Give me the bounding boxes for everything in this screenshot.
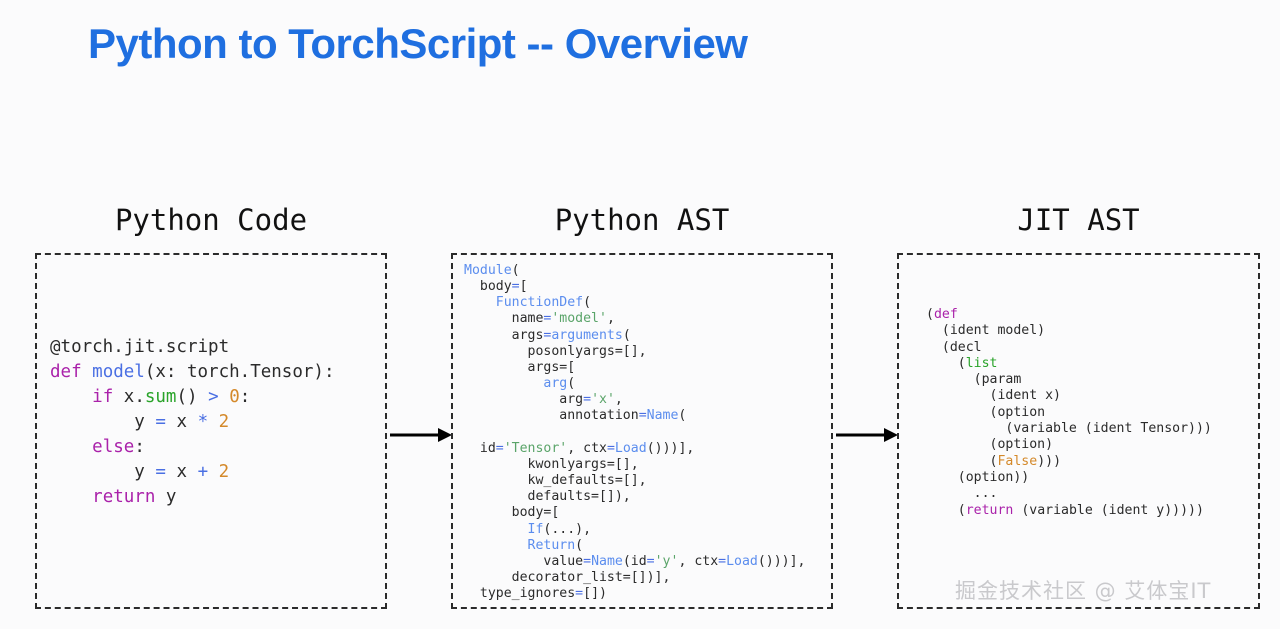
page-title: Python to TorchScript -- Overview: [88, 20, 747, 68]
watermark: 掘金技术社区 @ 艾体宝IT: [955, 575, 1211, 605]
column-header-python-ast: Python AST: [451, 203, 833, 237]
column-header-python-code: Python Code: [35, 203, 387, 237]
code-block-jit-ast: (def (ident model) (decl (list (param (i…: [926, 307, 1212, 519]
code-block-python-code: @torch.jit.script def model(x: torch.Ten…: [50, 335, 335, 510]
code-block-python-ast: Module( body=[ FunctionDef( name='model'…: [464, 263, 806, 602]
column-header-jit-ast: JIT AST: [897, 203, 1260, 237]
panel-python-ast: Module( body=[ FunctionDef( name='model'…: [451, 253, 833, 609]
panel-python-code: @torch.jit.script def model(x: torch.Ten…: [35, 253, 387, 609]
panel-jit-ast: (def (ident model) (decl (list (param (i…: [897, 253, 1260, 609]
arrow-code-to-python-ast: [390, 424, 452, 446]
arrow-python-ast-to-jit-ast: [836, 424, 898, 446]
